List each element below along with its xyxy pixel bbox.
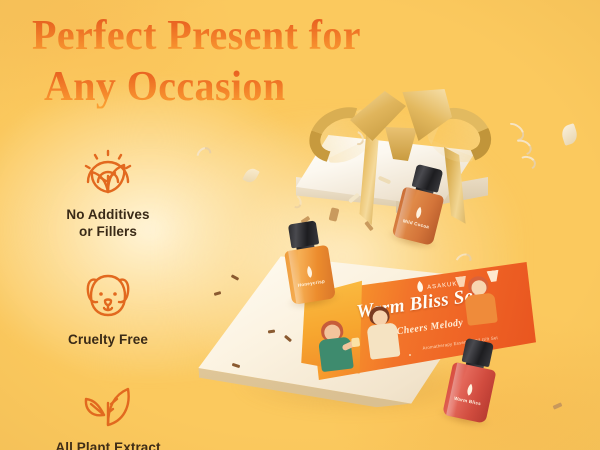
confetti-petal xyxy=(559,123,579,146)
banner-stage: Perfect Present for Any Occasion No Addi… xyxy=(0,0,600,450)
leaf-sunrise-icon xyxy=(77,142,139,198)
brand-leaf-icon xyxy=(302,264,318,280)
brand-leaf-icon xyxy=(462,381,479,398)
confetti-petal xyxy=(242,166,260,185)
page-title: Perfect Present for Any Occasion xyxy=(32,14,432,106)
feature-no-additives: No Additives or Fillers xyxy=(28,142,188,241)
confetti-chip xyxy=(553,402,563,409)
bottle-cap xyxy=(288,220,320,248)
feature-list: No Additives or Fillers Cruelty Free xyxy=(28,142,188,450)
gift-box xyxy=(286,95,496,225)
two-leaves-icon xyxy=(77,375,139,431)
headline-line-1: Perfect Present for xyxy=(32,14,432,57)
box-illustration-figure-left xyxy=(311,315,365,376)
feature-cruelty-free: Cruelty Free xyxy=(28,267,188,349)
dog-face-icon xyxy=(77,267,139,323)
box-illustration-figure-center xyxy=(358,304,409,371)
brand-leaf-icon xyxy=(410,204,427,221)
feature-plant-extract: All Plant Extract xyxy=(28,375,188,450)
feature-label: Cruelty Free xyxy=(28,332,188,349)
feature-label: All Plant Extract xyxy=(28,440,188,450)
feature-label: No Additives or Fillers xyxy=(28,207,188,241)
confetti-curl xyxy=(517,154,538,171)
headline-line-2: Any Occasion xyxy=(44,65,432,108)
confetti-curl xyxy=(194,144,214,165)
bottle-body: Honeycrisp xyxy=(284,245,336,305)
box-illustration-figure-right xyxy=(453,269,511,331)
product-gift-box: ASAKUKI Warm Bliss Set Cheers Melody Aro… xyxy=(300,262,536,380)
